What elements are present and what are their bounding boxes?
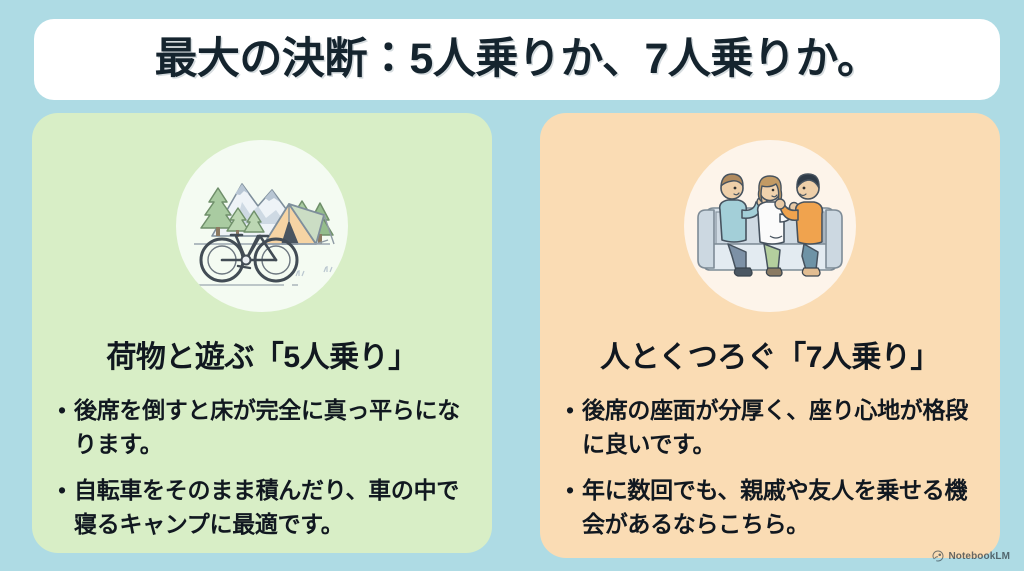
card-seven-seater[interactable]: 人とくつろぐ「7人乗り」 • 後席の座面が分厚く、座り心地が格段に良いです。 •… [540,113,1000,558]
sofa-people-illustration [684,140,856,312]
bullet-marker: • [58,473,74,507]
bullet-marker: • [58,393,74,427]
bullet-text: 後席の座面が分厚く、座り心地が格段に良いです。 [582,393,982,461]
list-item: • 後席を倒すと床が完全に真っ平らになります。 [58,393,474,461]
card-heading: 人とくつろぐ「7人乗り」 [540,339,1000,377]
bullet-list: • 後席を倒すと床が完全に真っ平らになります。 • 自転車をそのまま積んだり、車… [58,393,474,553]
list-item: • 後席の座面が分厚く、座り心地が格段に良いです。 [566,393,982,461]
bullet-marker: • [566,393,582,427]
card-heading: 荷物と遊ぶ「5人乗り」 [32,339,492,377]
bullet-text: 後席を倒すと床が完全に真っ平らになります。 [74,393,474,461]
notebooklm-icon [932,550,944,562]
bullet-text: 自転車をそのまま積んだり、車の中で寝るキャンプに最適です。 [74,473,474,541]
list-item: • 年に数回でも、親戚や友人を乗せる機会があるならこちら。 [566,473,982,541]
slide-canvas: 最大の決断：5人乗りか、7人乗りか。 [0,0,1024,571]
camping-illustration [176,140,348,312]
title-bar: 最大の決断：5人乗りか、7人乗りか。 [34,19,1000,100]
list-item: • 自転車をそのまま積んだり、車の中で寝るキャンプに最適です。 [58,473,474,541]
notebooklm-watermark: NotebookLM [932,550,1010,562]
three-people-sitting-on-sofa-icon [684,140,856,312]
card-five-seater[interactable]: 荷物と遊ぶ「5人乗り」 • 後席を倒すと床が完全に真っ平らになります。 • 自転… [32,113,492,553]
page-title: 最大の決断：5人乗りか、7人乗りか。 [154,38,879,81]
camping-bicycle-tent-mountains-icon [176,140,348,312]
bullet-marker: • [566,473,582,507]
bullet-list: • 後席の座面が分厚く、座り心地が格段に良いです。 • 年に数回でも、親戚や友人… [566,393,982,553]
bullet-text: 年に数回でも、親戚や友人を乗せる機会があるならこちら。 [582,473,982,541]
watermark-label: NotebookLM [948,551,1010,562]
